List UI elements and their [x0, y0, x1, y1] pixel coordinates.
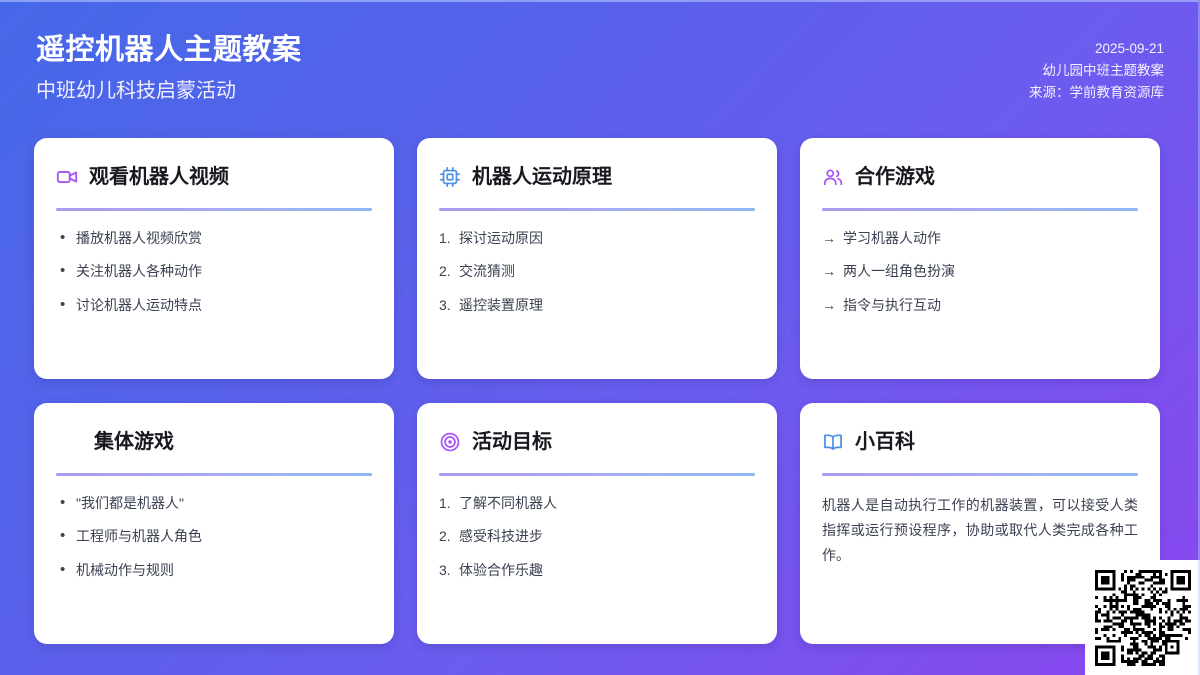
card-list: →学习机器人动作 →两人一组角色扮演 →指令与执行互动 [822, 228, 1138, 315]
card-title: 集体游戏 [94, 430, 174, 454]
card-body: 1.探讨运动原因 2.交流猜测 3.遥控装置原理 [439, 228, 755, 361]
open-book-icon [822, 431, 844, 453]
list-item: 1.探讨运动原因 [439, 228, 755, 248]
header-left: 遥控机器人主题教案 中班幼儿科技启蒙活动 [36, 26, 302, 104]
list-item: "我们都是机器人" [56, 493, 372, 513]
page-subtitle: 中班幼儿科技启蒙活动 [36, 78, 302, 104]
card-header: 机器人运动原理 [439, 160, 755, 194]
card-title: 机器人运动原理 [472, 165, 612, 189]
card-body: 1.了解不同机器人 2.感受科技进步 3.体验合作乐趣 [439, 493, 755, 626]
card-list: 播放机器人视频欣赏 关注机器人各种动作 讨论机器人运动特点 [56, 228, 372, 315]
card-header: 集体游戏 [56, 425, 372, 459]
list-item: 讨论机器人运动特点 [56, 295, 372, 315]
users-icon [822, 166, 844, 188]
list-item: 2.交流猜测 [439, 261, 755, 281]
card-divider [822, 473, 1138, 476]
card-title: 观看机器人视频 [89, 165, 229, 189]
card-body: "我们都是机器人" 工程师与机器人角色 机械动作与规则 [56, 493, 372, 626]
slide-root: 遥控机器人主题教案 中班幼儿科技启蒙活动 2025-09-21 幼儿园中班主题教… [0, 0, 1200, 675]
card-header: 合作游戏 [822, 160, 1138, 194]
card-grid: 观看机器人视频 播放机器人视频欣赏 关注机器人各种动作 讨论机器人运动特点 机器… [34, 138, 1166, 644]
card-cooperative-game[interactable]: 合作游戏 →学习机器人动作 →两人一组角色扮演 →指令与执行互动 [800, 138, 1160, 379]
card-header: 小百科 [822, 425, 1138, 459]
card-divider [56, 208, 372, 211]
card-divider [56, 473, 372, 476]
card-robot-motion-principle[interactable]: 机器人运动原理 1.探讨运动原因 2.交流猜测 3.遥控装置原理 [417, 138, 777, 379]
card-body: →学习机器人动作 →两人一组角色扮演 →指令与执行互动 [822, 228, 1138, 361]
list-item: 3.遥控装置原理 [439, 295, 755, 315]
list-item: →两人一组角色扮演 [822, 261, 1138, 281]
list-item: →指令与执行互动 [822, 295, 1138, 315]
list-item: 3.体验合作乐趣 [439, 560, 755, 580]
list-item: →学习机器人动作 [822, 228, 1138, 248]
slide-header: 遥控机器人主题教案 中班幼儿科技启蒙活动 2025-09-21 幼儿园中班主题教… [0, 0, 1200, 122]
list-item: 工程师与机器人角色 [56, 526, 372, 546]
card-list: 1.探讨运动原因 2.交流猜测 3.遥控装置原理 [439, 228, 755, 315]
target-icon [439, 431, 461, 453]
card-header: 活动目标 [439, 425, 755, 459]
card-watch-robot-video[interactable]: 观看机器人视频 播放机器人视频欣赏 关注机器人各种动作 讨论机器人运动特点 [34, 138, 394, 379]
list-item: 2.感受科技进步 [439, 526, 755, 546]
card-paragraph: 机器人是自动执行工作的机器装置，可以接受人类指挥或运行预设程序，协助或取代人类完… [822, 493, 1138, 568]
list-item: 关注机器人各种动作 [56, 261, 372, 281]
card-header: 观看机器人视频 [56, 160, 372, 194]
card-title: 合作游戏 [855, 165, 935, 189]
card-body: 播放机器人视频欣赏 关注机器人各种动作 讨论机器人运动特点 [56, 228, 372, 361]
header-date: 2025-09-21 [1029, 38, 1164, 60]
video-camera-icon [56, 166, 78, 188]
list-item: 1.了解不同机器人 [439, 493, 755, 513]
card-title: 小百科 [855, 430, 915, 454]
header-category: 幼儿园中班主题教案 [1029, 60, 1164, 82]
page-title: 遥控机器人主题教案 [36, 32, 302, 68]
card-title: 活动目标 [472, 430, 552, 454]
card-group-game[interactable]: 集体游戏 "我们都是机器人" 工程师与机器人角色 机械动作与规则 [34, 403, 394, 644]
card-activity-goals[interactable]: 活动目标 1.了解不同机器人 2.感受科技进步 3.体验合作乐趣 [417, 403, 777, 644]
card-list: "我们都是机器人" 工程师与机器人角色 机械动作与规则 [56, 493, 372, 580]
card-list: 1.了解不同机器人 2.感受科技进步 3.体验合作乐趣 [439, 493, 755, 580]
list-item: 播放机器人视频欣赏 [56, 228, 372, 248]
card-divider [439, 208, 755, 211]
qr-code-panel [1085, 560, 1200, 675]
card-divider [822, 208, 1138, 211]
qr-code[interactable] [1095, 570, 1191, 666]
card-divider [439, 473, 755, 476]
cpu-chip-icon [439, 166, 461, 188]
list-item: 机械动作与规则 [56, 560, 372, 580]
header-meta: 2025-09-21 幼儿园中班主题教案 来源：学前教育资源库 [1029, 26, 1164, 104]
header-source: 来源：学前教育资源库 [1029, 82, 1164, 104]
